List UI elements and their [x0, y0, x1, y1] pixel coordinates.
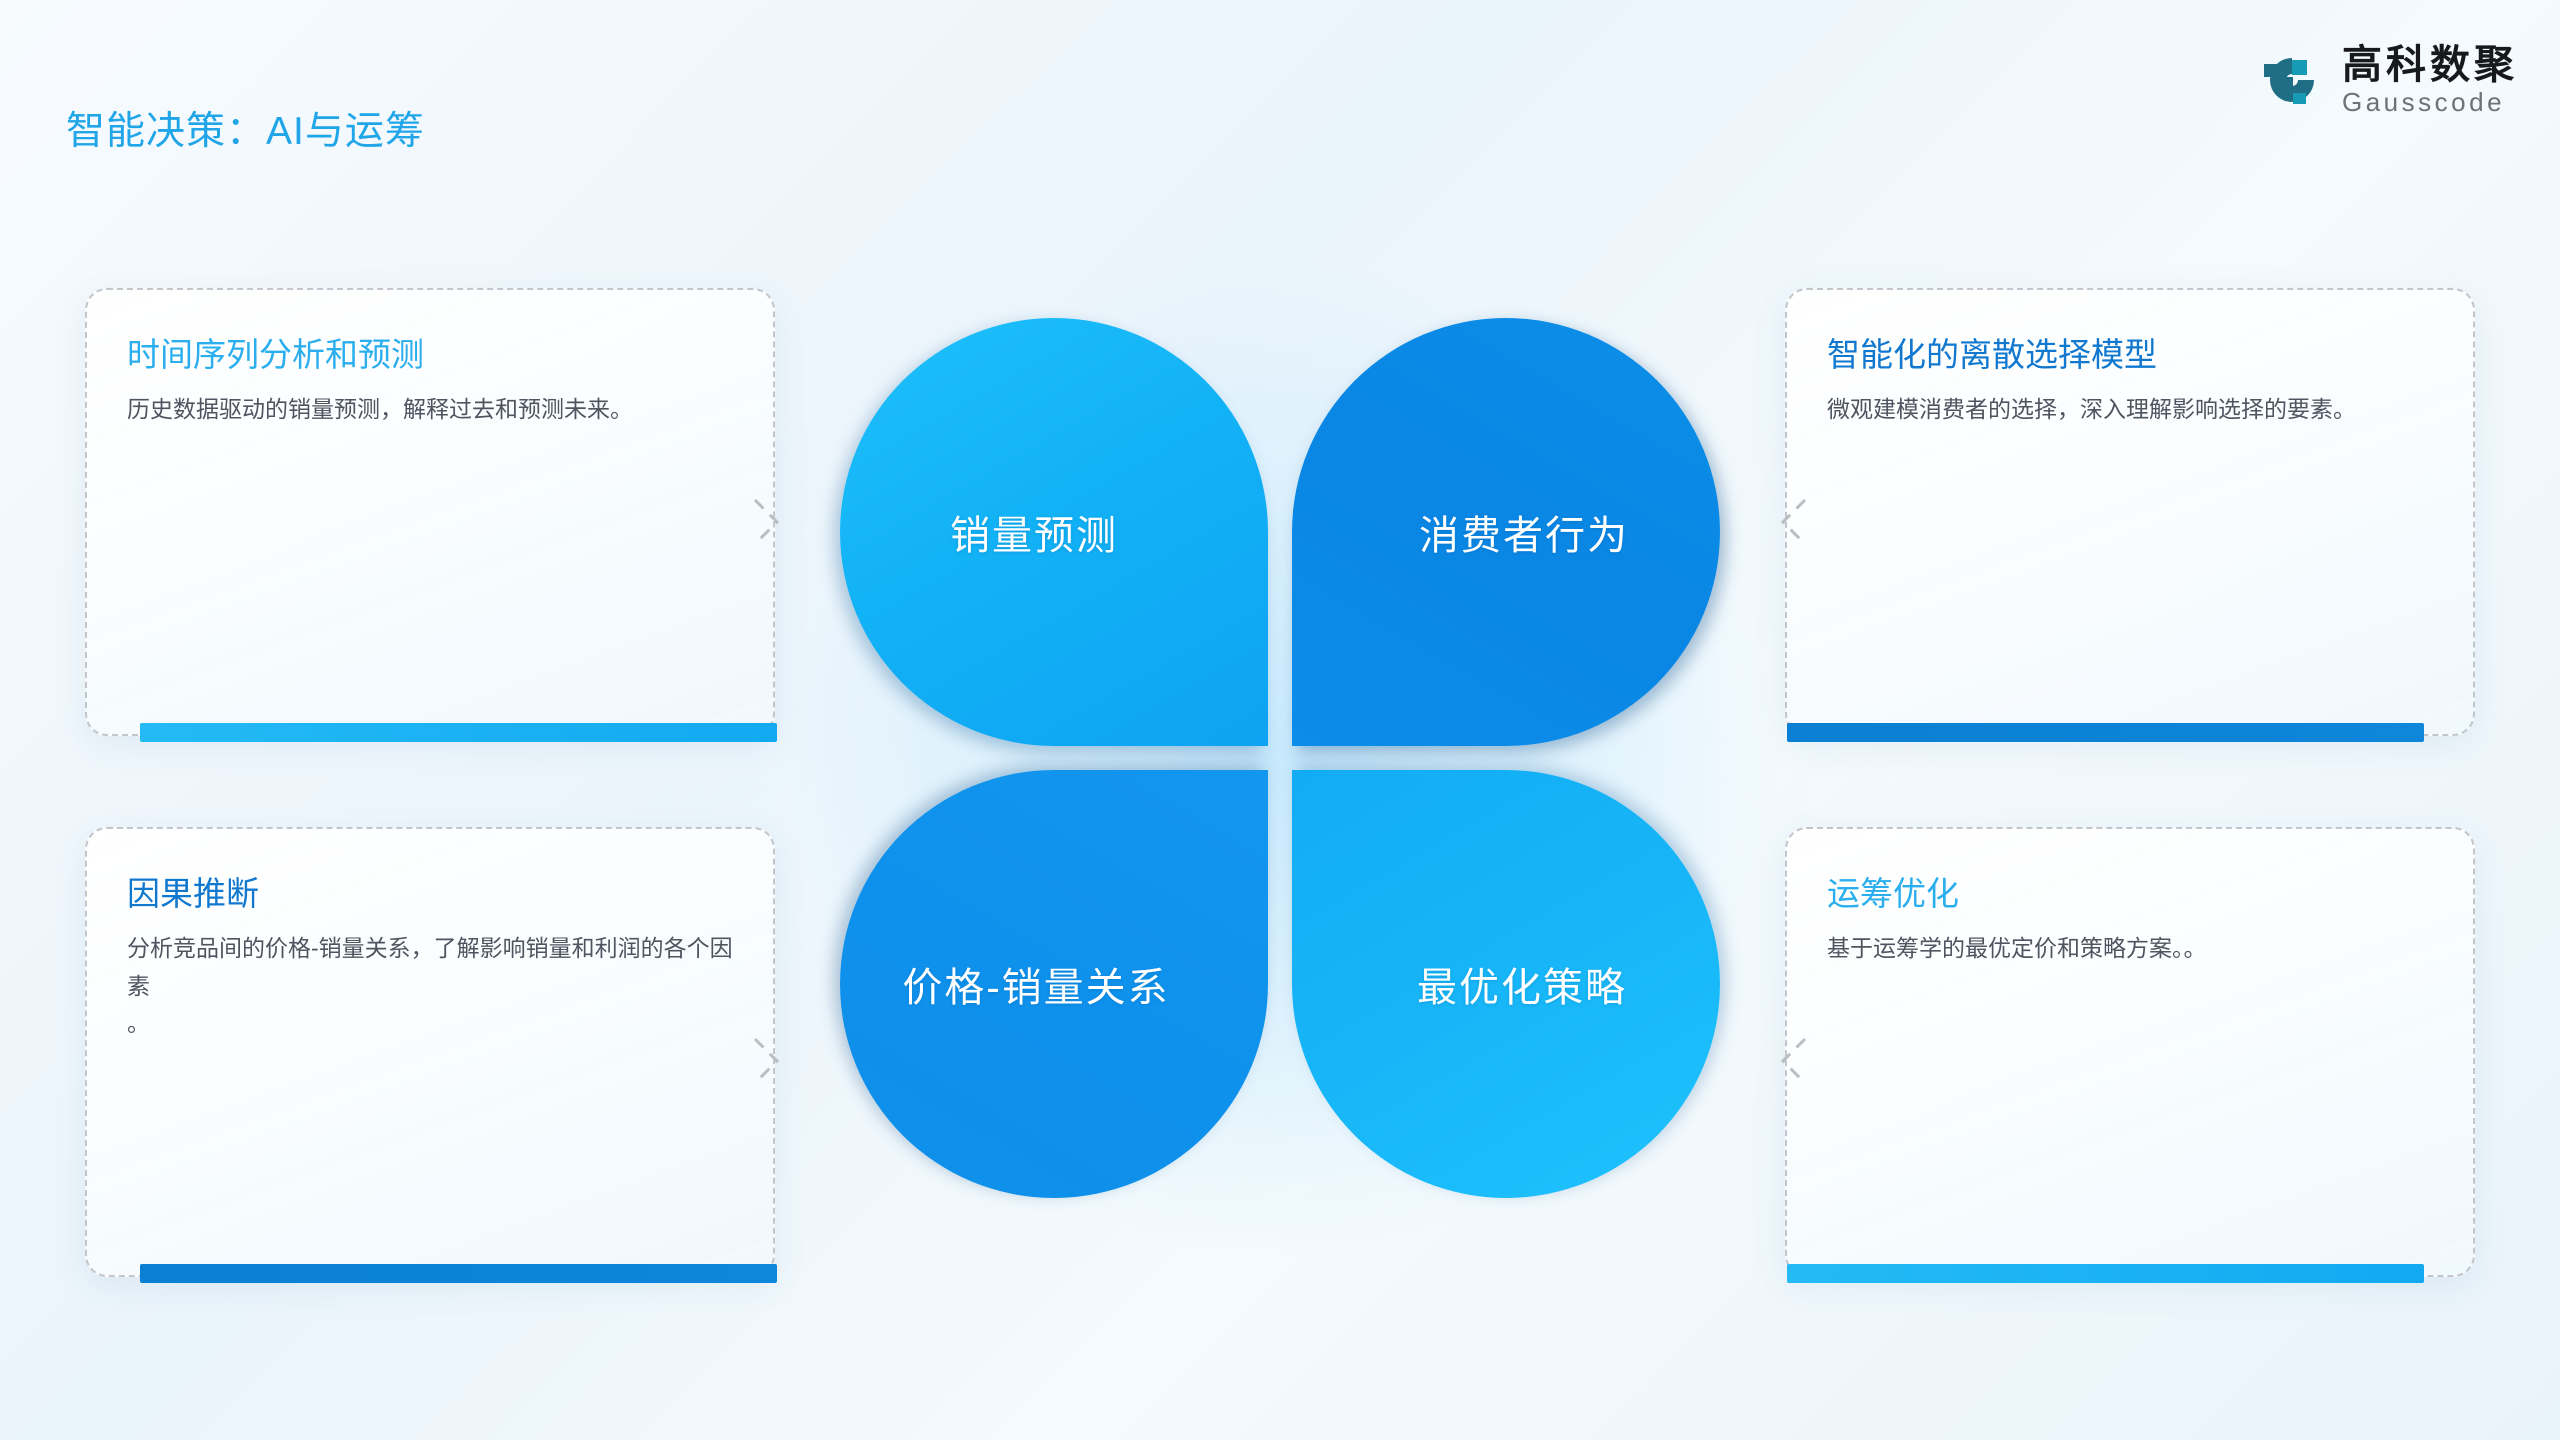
- card-title: 智能化的离散选择模型: [1827, 334, 2433, 375]
- brand-name-cn: 高科数聚: [2342, 44, 2518, 86]
- petal-consumer-behavior[interactable]: 消费者行为: [1292, 318, 1720, 746]
- petal-label: 销量预测: [950, 503, 1118, 561]
- card-accent-bar: [1787, 1264, 2424, 1283]
- card-accent-bar: [140, 1264, 777, 1283]
- petal-price-volume[interactable]: 价格-销量关系: [840, 770, 1268, 1198]
- info-card-causal-inference[interactable]: 因果推断 分析竞品间的价格-销量关系，了解影响销量和利润的各个因素 。: [85, 827, 775, 1277]
- card-body-text: 分析竞品间的价格-销量关系，了解影响销量和利润的各个因素: [127, 935, 733, 998]
- info-card-time-series[interactable]: 时间序列分析和预测 历史数据驱动的销量预测，解释过去和预测未来。: [85, 288, 775, 736]
- card-title: 因果推断: [127, 873, 733, 914]
- info-card-discrete-choice[interactable]: 智能化的离散选择模型 微观建模消费者的选择，深入理解影响选择的要素。: [1785, 288, 2475, 736]
- card-title: 时间序列分析和预测: [127, 334, 733, 375]
- brand-name-en: Gausscode: [2342, 88, 2518, 118]
- card-body: 微观建模消费者的选择，深入理解影响选择的要素。: [1827, 391, 2433, 428]
- card-body: 基于运筹学的最优定价和策略方案。。: [1827, 930, 2433, 967]
- card-body-text: 基于运筹学的最优定价和策略方案。。: [1827, 935, 2207, 961]
- card-content: 运筹优化 基于运筹学的最优定价和策略方案。。: [1787, 829, 2473, 1275]
- petal-sales-forecast[interactable]: 销量预测: [840, 318, 1268, 746]
- card-title: 运筹优化: [1827, 873, 2433, 914]
- card-accent-bar: [1787, 723, 2424, 742]
- chevron-right-icon: [747, 486, 801, 558]
- info-card-operations-research[interactable]: 运筹优化 基于运筹学的最优定价和策略方案。。: [1785, 827, 2475, 1277]
- card-content: 因果推断 分析竞品间的价格-销量关系，了解影响销量和利润的各个因素 。: [87, 829, 773, 1275]
- card-body: 分析竞品间的价格-销量关系，了解影响销量和利润的各个因素 。: [127, 930, 733, 1042]
- petal-label: 价格-销量关系: [902, 955, 1169, 1013]
- card-content: 智能化的离散选择模型 微观建模消费者的选择，深入理解影响选择的要素。: [1787, 290, 2473, 734]
- petal-label: 消费者行为: [1419, 503, 1629, 561]
- chevron-left-icon: [1759, 1025, 1813, 1097]
- card-accent-bar: [140, 723, 777, 742]
- page-header: 智能决策：AI与运筹 高科数聚 Gausscode: [0, 0, 2560, 170]
- four-petal-diagram: 销量预测 消费者行为 价格-销量关系 最优化策略: [840, 318, 1720, 1198]
- gausscode-logo-icon: [2262, 50, 2324, 112]
- card-body: 历史数据驱动的销量预测，解释过去和预测未来。: [127, 391, 733, 428]
- card-content: 时间序列分析和预测 历史数据驱动的销量预测，解释过去和预测未来。: [87, 290, 773, 734]
- card-body-text: 历史数据驱动的销量预测，解释过去和预测未来。: [127, 396, 633, 422]
- page-title: 智能决策：AI与运筹: [66, 100, 425, 156]
- chevron-left-icon: [1759, 486, 1813, 558]
- chevron-right-icon: [747, 1025, 801, 1097]
- petal-label: 最优化策略: [1417, 955, 1627, 1013]
- brand-logo: 高科数聚 Gausscode: [2262, 44, 2518, 118]
- card-body-text: 微观建模消费者的选择，深入理解影响选择的要素。: [1827, 396, 2356, 422]
- card-body-tail: 。: [127, 1005, 733, 1042]
- petal-optimal-strategy[interactable]: 最优化策略: [1292, 770, 1720, 1198]
